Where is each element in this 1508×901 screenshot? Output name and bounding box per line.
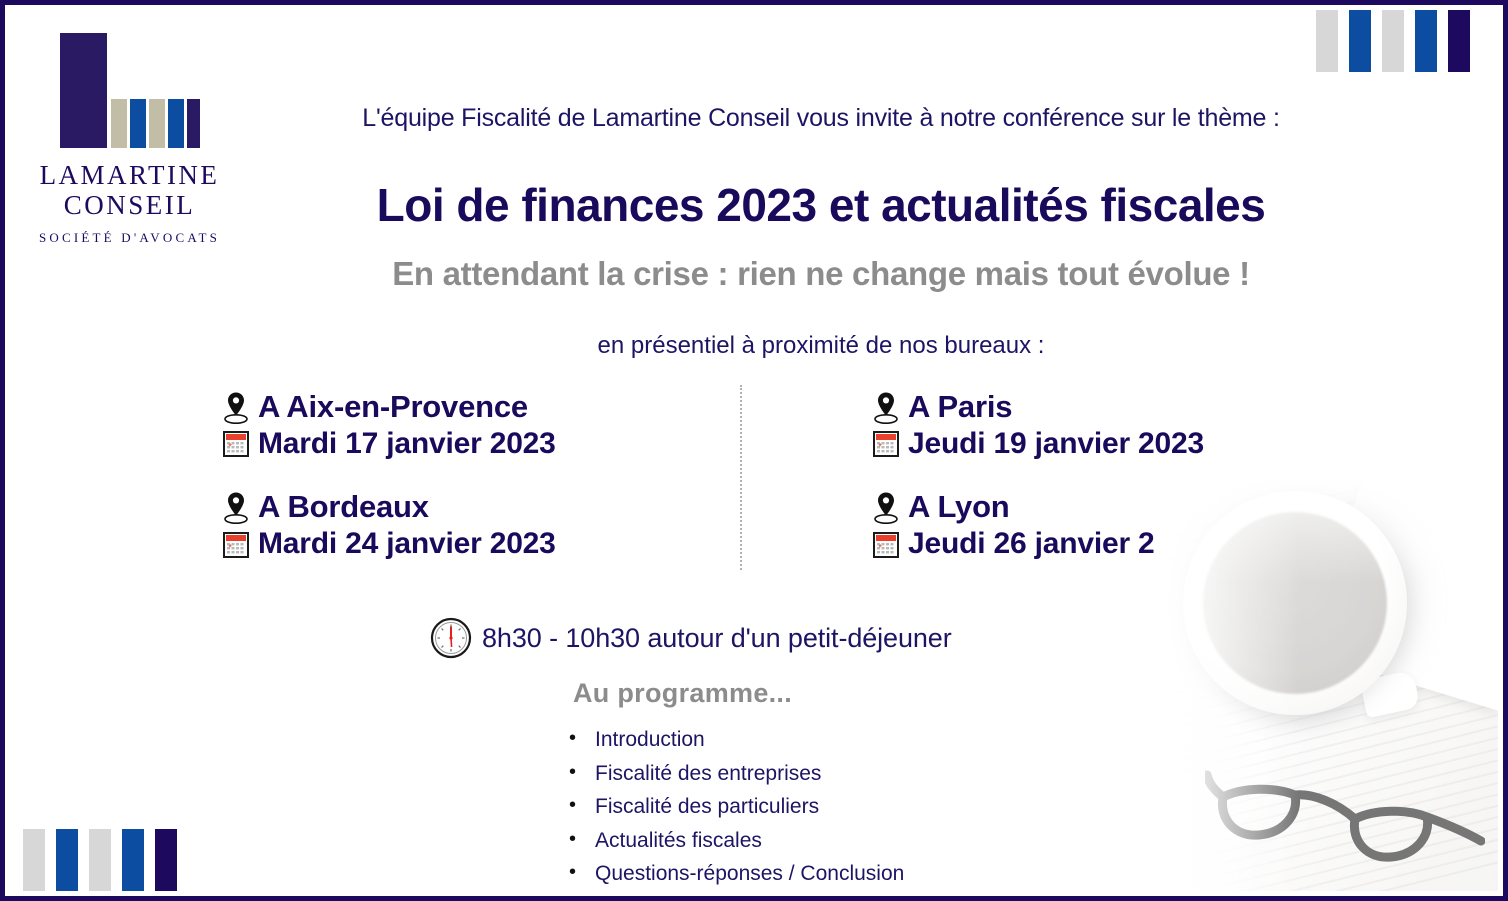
svg-text:*: * bbox=[228, 442, 232, 452]
decor-bar bbox=[23, 829, 45, 891]
decor-bar bbox=[1349, 10, 1371, 72]
company-logo: LAMARTINE CONSEIL SOCIÉTÉ D'AVOCATS bbox=[27, 23, 232, 246]
location-city: A Paris bbox=[908, 388, 1012, 426]
map-pin-icon bbox=[223, 390, 249, 424]
list-item: Fiscalité des particuliers bbox=[565, 790, 904, 824]
list-item: Actualités fiscales bbox=[565, 824, 904, 858]
decor-bar bbox=[155, 829, 177, 891]
location-city: A Aix-en-Provence bbox=[258, 388, 528, 426]
logo-name-line1: LAMARTINE bbox=[27, 160, 232, 190]
list-item: Questions-réponses / Conclusion bbox=[565, 857, 904, 891]
location-block: A Bordeaux * bbox=[223, 488, 703, 562]
svg-text:*: * bbox=[878, 442, 882, 452]
location-city-row: A Paris bbox=[873, 388, 1353, 426]
map-pin-icon bbox=[223, 490, 249, 524]
logo-tagline: SOCIÉTÉ D'AVOCATS bbox=[27, 230, 232, 246]
decor-bar bbox=[1382, 10, 1404, 72]
location-date-row: * Jeudi 19 janvier 2023 bbox=[873, 426, 1353, 463]
location-city-row: A Aix-en-Provence bbox=[223, 388, 703, 426]
svg-text:*: * bbox=[228, 542, 232, 552]
logo-bar-5 bbox=[187, 99, 200, 148]
location-block: A Aix-en-Provence bbox=[223, 388, 703, 462]
conference-invitation-poster: LAMARTINE CONSEIL SOCIÉTÉ D'AVOCATS L'éq… bbox=[0, 0, 1508, 901]
map-pin-icon bbox=[873, 490, 899, 524]
decor-bar bbox=[56, 829, 78, 891]
location-date-row: * Mardi 17 janvier 2023 bbox=[223, 426, 703, 463]
location-city: A Bordeaux bbox=[258, 488, 429, 526]
location-date-row: * Mardi 24 janvier 2023 bbox=[223, 526, 703, 563]
page-subtitle: En attendant la crise : rien ne change m… bbox=[241, 255, 1401, 293]
location-city-row: A Bordeaux bbox=[223, 488, 703, 526]
photo-top-fade bbox=[1155, 475, 1498, 891]
logo-bar-4 bbox=[168, 99, 184, 148]
column-divider bbox=[740, 385, 742, 570]
decor-bar bbox=[1448, 10, 1470, 72]
programme-list: Introduction Fiscalité des entreprises F… bbox=[535, 723, 904, 891]
location-block: A Paris * bbox=[873, 388, 1353, 462]
logo-bar-2 bbox=[130, 99, 146, 148]
clock-icon bbox=[430, 617, 472, 659]
calendar-icon: * bbox=[223, 431, 249, 457]
decor-bar bbox=[89, 829, 111, 891]
venue-note: en présentiel à proximité de nos bureaux… bbox=[241, 332, 1401, 360]
location-date: Mardi 17 janvier 2023 bbox=[258, 426, 556, 463]
calendar-icon: * bbox=[873, 532, 899, 558]
invitation-intro-text: L'équipe Fiscalité de Lamartine Conseil … bbox=[241, 104, 1401, 133]
decor-bar bbox=[1316, 10, 1338, 72]
list-item: Introduction bbox=[565, 723, 904, 757]
decor-bar bbox=[1415, 10, 1437, 72]
logo-bar-1 bbox=[111, 99, 127, 148]
schedule-time-text: 8h30 - 10h30 autour d'un petit-déjeuner bbox=[482, 623, 952, 654]
logo-bar-3 bbox=[149, 99, 165, 148]
location-date: Jeudi 19 janvier 2023 bbox=[908, 426, 1204, 463]
calendar-icon: * bbox=[223, 532, 249, 558]
locations-column-left: A Aix-en-Provence bbox=[223, 388, 703, 581]
calendar-icon: * bbox=[873, 431, 899, 457]
logo-name-line2: CONSEIL bbox=[27, 190, 232, 220]
decorative-bars-top-right bbox=[1316, 10, 1470, 72]
programme-heading: Au programme... bbox=[573, 678, 792, 709]
location-city: A Lyon bbox=[908, 488, 1010, 526]
list-item: Fiscalité des entreprises bbox=[565, 757, 904, 791]
logo-bars-mark bbox=[60, 33, 200, 148]
schedule-row: 8h30 - 10h30 autour d'un petit-déjeuner bbox=[430, 617, 952, 659]
decorative-bars-bottom-left bbox=[23, 829, 177, 891]
coffee-and-glasses-photo bbox=[1155, 475, 1498, 891]
page-title: Loi de finances 2023 et actualités fisca… bbox=[241, 178, 1401, 232]
map-pin-icon bbox=[873, 390, 899, 424]
decor-bar bbox=[122, 829, 144, 891]
svg-text:*: * bbox=[878, 542, 882, 552]
logo-bar-tall bbox=[60, 33, 107, 148]
location-date: Mardi 24 janvier 2023 bbox=[258, 526, 556, 563]
